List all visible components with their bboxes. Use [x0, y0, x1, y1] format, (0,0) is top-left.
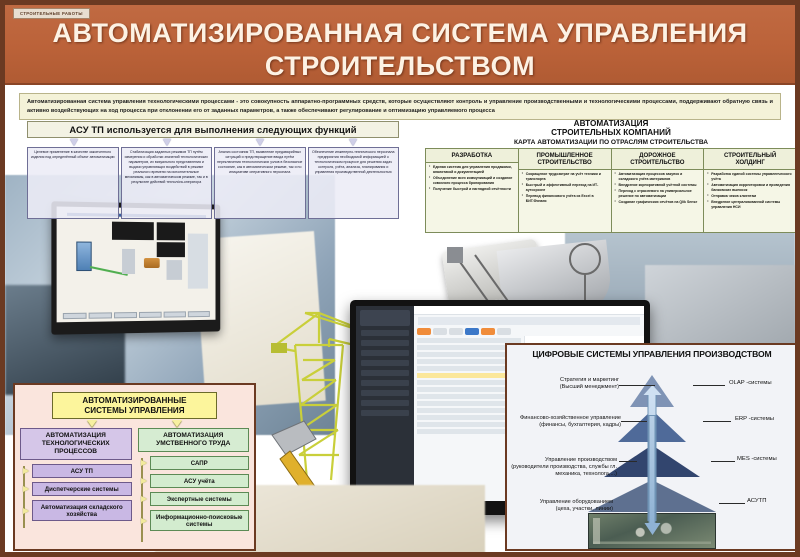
asu-item-expert[interactable]: Экспертные системы — [150, 492, 250, 506]
automation-map-panel: АВТОМАТИЗАЦИЯ СТРОИТЕЛЬНЫХ КОМПАНИЙ КАРТ… — [425, 119, 797, 233]
map-column-promyshlennoe: ПРОМЫШЛЕННОЕ СТРОИТЕЛЬСТВО Сокращение тр… — [519, 149, 612, 232]
map-item: Перевод финансового учёта из Excel в БИТ… — [522, 194, 608, 204]
function-box-2: Стабилизация заданных режимов ТП путём и… — [121, 147, 213, 219]
arrow-down-icon — [256, 139, 264, 146]
scada-screen — [57, 207, 216, 323]
scada-column — [122, 249, 135, 274]
functions-arrow-row — [27, 138, 399, 146]
map-item: Единая система для управления продажами,… — [429, 165, 515, 175]
arrow-right-icon — [141, 460, 147, 466]
functions-columns: Целевое применение в качестве законченно… — [27, 147, 399, 219]
scada-readout-block-2 — [157, 222, 185, 240]
gantt-toolbar-button[interactable] — [481, 328, 495, 335]
scada-valve — [144, 258, 160, 268]
pyramid-stage: Стратегия и маркетинг (Высший менеджмент… — [507, 361, 797, 539]
scada-button-row — [63, 311, 209, 319]
scada-column-2 — [166, 260, 182, 280]
arrow-right-icon — [141, 496, 147, 502]
page-title: АВТОМАТИЗИРОВАННАЯ СИСТЕМА УПРАВЛЕНИЯ СТ… — [5, 17, 795, 83]
map-column-items: Автоматизация процессов закупок и складс… — [612, 170, 704, 232]
map-column-header-line-1: ДОРОЖНОЕ — [613, 152, 703, 159]
scada-button[interactable] — [89, 312, 112, 318]
map-column-header-line-2: СТРОИТЕЛЬСТВО — [520, 159, 610, 166]
poster-header: СТРОИТЕЛЬНЫЕ РАБОТЫ АВТОМАТИЗИРОВАННАЯ С… — [5, 5, 795, 85]
leader-line — [693, 385, 725, 386]
arrow-down-icon — [172, 420, 182, 427]
map-item: Быстрый и эффективный переход на ИТ-аутс… — [522, 183, 608, 193]
title-line-2: СТРОИТЕЛЬСТВОМ — [5, 50, 795, 83]
gantt-nav-item[interactable] — [361, 370, 409, 376]
arrow-right-icon — [23, 486, 29, 492]
gantt-topbar — [414, 306, 644, 315]
asu-item-sapr[interactable]: САПР — [150, 456, 250, 470]
gantt-sidebar — [356, 306, 414, 501]
scada-button[interactable] — [63, 312, 87, 318]
gantt-toolbar-button[interactable] — [449, 328, 463, 335]
leader-line — [593, 513, 619, 514]
leader-line — [619, 461, 637, 462]
gantt-toolbar — [414, 327, 644, 336]
map-item: Автоматизация процессов закупок и складс… — [615, 172, 701, 182]
asu-root-line-1: АВТОМАТИЗИРОВАННЫЕ — [55, 396, 214, 406]
pyramid-right-label-erp: ERP -системы — [735, 416, 799, 423]
pyramid-left-label-3: Управление производством (руководители п… — [505, 457, 617, 478]
map-item: Получение быстрой и наглядной отчётности — [429, 187, 515, 192]
asu-item-label: Информационно-поисковые системы — [156, 514, 242, 528]
asu-branch-left-header: АВТОМАТИЗАЦИЯ ТЕХНОЛОГИЧЕСКИХ ПРОЦЕССОВ — [20, 428, 132, 460]
map-item: Отправка чеков клиентам — [707, 194, 793, 199]
gantt-nav-item[interactable] — [361, 350, 409, 356]
map-grid: РАЗРАБОТКА Единая система для управления… — [425, 148, 797, 233]
asu-branches: АВТОМАТИЗАЦИЯ ТЕХНОЛОГИЧЕСКИХ ПРОЦЕССОВ … — [20, 428, 249, 535]
map-item: Внедрение централизованной системы управ… — [707, 200, 793, 210]
arrow-right-icon — [141, 518, 147, 524]
map-column-items: Единая система для управления продажами,… — [426, 163, 518, 225]
asu-item-label: АСУ ТП — [71, 468, 93, 475]
arrow-down-icon — [87, 420, 97, 427]
asu-item-label: Автоматизация складского хозяйства — [41, 504, 123, 518]
arrow-down-icon — [70, 139, 78, 146]
arrow-right-icon — [141, 478, 147, 484]
poster-root: СТРОИТЕЛЬНЫЕ РАБОТЫ АВТОМАТИЗИРОВАННАЯ С… — [0, 0, 800, 557]
scada-readout-block-3 — [157, 242, 185, 257]
leader-line — [703, 421, 731, 422]
asu-connector-line — [23, 466, 25, 528]
arrow-down-icon — [163, 139, 171, 146]
arrow-down-icon — [649, 415, 656, 525]
gantt-project-title — [418, 317, 640, 325]
asu-root-line-2: СИСТЕМЫ УПРАВЛЕНИЯ — [55, 406, 214, 416]
pyramid-right-label-asutp: АСУТП — [747, 498, 799, 505]
map-column-dorozhnoe: ДОРОЖНОЕ СТРОИТЕЛЬСТВО Автоматизация про… — [612, 149, 705, 232]
pyramid-left-label-1: Стратегия и маркетинг (Высший менеджмент… — [511, 377, 619, 391]
digital-systems-panel: ЦИФРОВЫЕ СИСТЕМЫ УПРАВЛЕНИЯ ПРОИЗВОДСТВО… — [505, 343, 799, 551]
gantt-nav-item[interactable] — [361, 340, 409, 346]
asu-branch-left: АВТОМАТИЗАЦИЯ ТЕХНОЛОГИЧЕСКИХ ПРОЦЕССОВ … — [20, 428, 132, 535]
pyramid-right-label-olap: OLAP -системы — [729, 380, 799, 387]
gantt-toolbar-button[interactable] — [417, 328, 431, 335]
map-column-header: ДОРОЖНОЕ СТРОИТЕЛЬСТВО — [612, 149, 704, 170]
gantt-toolbar-button[interactable] — [433, 328, 447, 335]
map-column-items: Сокращение трудозатрат на учёт техники и… — [519, 170, 611, 232]
asu-diagram-panel: АВТОМАТИЗИРОВАННЫЕ СИСТЕМЫ УПРАВЛЕНИЯ АВ… — [13, 383, 256, 551]
gantt-nav-item[interactable] — [361, 400, 409, 406]
scada-sidebar — [188, 233, 208, 289]
gantt-logo — [360, 310, 410, 326]
map-column-header: РАЗРАБОТКА — [426, 149, 518, 163]
scada-monitor-photo — [51, 201, 220, 334]
asu-item-infosearch[interactable]: Информационно-поисковые системы — [150, 510, 250, 531]
map-column-razrabotka: РАЗРАБОТКА Единая система для управления… — [426, 149, 519, 232]
map-item: Объединение всех коммуникаций и создание… — [429, 176, 515, 186]
map-title-line-2: СТРОИТЕЛЬНЫХ КОМПАНИЙ — [425, 128, 797, 137]
digital-panel-title: ЦИФРОВЫЕ СИСТЕМЫ УПРАВЛЕНИЯ ПРОИЗВОДСТВО… — [507, 345, 797, 361]
map-subtitle: КАРТА АВТОМАТИЗАЦИИ ПО ОТРАСЛЯМ СТРОИТЕЛ… — [425, 139, 797, 146]
function-box-3: Анализ состояния ТП, выявление предавари… — [214, 147, 306, 219]
map-column-items: Разработка единой системы управленческог… — [704, 170, 796, 232]
arrow-down-icon — [349, 139, 357, 146]
map-column-header-line-2: ХОЛДИНГ — [705, 159, 795, 166]
arrow-right-icon — [23, 468, 29, 474]
map-column-holding: СТРОИТЕЛЬНЫЙ ХОЛДИНГ Разработка единой с… — [704, 149, 796, 232]
map-column-header-line-1: СТРОИТЕЛЬНЫЙ — [705, 152, 795, 159]
asu-item-accounting[interactable]: АСУ учёта — [150, 474, 250, 488]
asu-arrow-row — [20, 420, 249, 427]
pyramid-left-label-4: Управление оборудованием (цеха, участки,… — [505, 499, 613, 513]
functions-panel-title: АСУ ТП используется для выполнения следу… — [27, 121, 399, 138]
gantt-nav-item[interactable] — [361, 410, 409, 416]
map-item: Внедрение корпоративной учётной системы — [615, 183, 701, 188]
leader-line — [711, 461, 735, 462]
asu-branch-right-items: САПР АСУ учёта Экспертные системы Информ… — [138, 456, 250, 531]
function-box-4: Обеспечение инженерно-технического персо… — [308, 147, 400, 219]
map-item: Создание графических отчётов на Qlik Sen… — [615, 200, 701, 205]
map-column-header-line-1: ПРОМЫШЛЕННОЕ — [520, 152, 610, 159]
map-item: Разработка единой системы управленческог… — [707, 172, 793, 182]
scada-button[interactable] — [114, 312, 137, 318]
asu-root-node: АВТОМАТИЗИРОВАННЫЕ СИСТЕМЫ УПРАВЛЕНИЯ — [52, 392, 217, 419]
asu-branch-right-header: АВТОМАТИЗАЦИЯ УМСТВЕННОГО ТРУДА — [138, 428, 250, 452]
asu-item-label: САПР — [191, 460, 208, 467]
map-title-line-1: АВТОМАТИЗАЦИЯ — [425, 119, 797, 128]
scada-readout-block-1 — [112, 221, 153, 240]
map-column-header: СТРОИТЕЛЬНЫЙ ХОЛДИНГ — [704, 149, 796, 170]
gantt-nav-item[interactable] — [361, 380, 409, 386]
arrow-right-icon — [23, 508, 29, 514]
gantt-nav-item[interactable] — [361, 360, 409, 366]
asu-item-warehouse[interactable]: Автоматизация складского хозяйства — [32, 500, 132, 521]
map-column-header-line-2: СТРОИТЕЛЬСТВО — [613, 159, 703, 166]
asu-branch-right: АВТОМАТИЗАЦИЯ УМСТВЕННОГО ТРУДА САПР АСУ… — [138, 428, 250, 535]
function-box-1: Целевое применение в качестве законченно… — [27, 147, 119, 219]
gantt-toolbar-button[interactable] — [497, 328, 511, 335]
pyramid-left-label-2: Финансово-хозяйственное управление (фина… — [507, 415, 621, 429]
map-item: Автоматизация корректировки и проведения… — [707, 183, 793, 193]
asu-item-dispatch[interactable]: Диспетчерские системы — [32, 482, 132, 496]
asu-item-label: Экспертные системы — [167, 496, 232, 503]
map-title: АВТОМАТИЗАЦИЯ СТРОИТЕЛЬНЫХ КОМПАНИЙ — [425, 119, 797, 138]
map-item: Сокращение трудозатрат на учёт техники и… — [522, 172, 608, 182]
leader-line — [621, 421, 647, 422]
asu-item-asutp[interactable]: АСУ ТП — [32, 464, 132, 478]
map-item: Переход с отраслевого на универсальное р… — [615, 189, 701, 199]
title-line-1: АВТОМАТИЗИРОВАННАЯ СИСТЕМА УПРАВЛЕНИЯ — [5, 17, 795, 50]
leader-line — [719, 503, 745, 504]
map-column-header: ПРОМЫШЛЕННОЕ СТРОИТЕЛЬСТВО — [519, 149, 611, 170]
pyramid-right-label-mes: MES -системы — [737, 456, 799, 463]
asu-item-label: Диспетчерские системы — [45, 486, 119, 493]
leader-line — [619, 385, 655, 386]
asu-item-label: АСУ учёта — [184, 478, 215, 485]
gantt-nav-item[interactable] — [361, 330, 409, 336]
functions-panel: АСУ ТП используется для выполнения следу… — [27, 121, 399, 219]
gantt-toolbar-button[interactable] — [465, 328, 479, 335]
asu-branch-left-items: АСУ ТП Диспетчерские системы Автоматизац… — [20, 464, 132, 521]
scada-button[interactable] — [139, 311, 162, 317]
scada-button[interactable] — [163, 311, 185, 317]
scada-button[interactable] — [188, 311, 210, 317]
gantt-nav-item[interactable] — [361, 390, 409, 396]
